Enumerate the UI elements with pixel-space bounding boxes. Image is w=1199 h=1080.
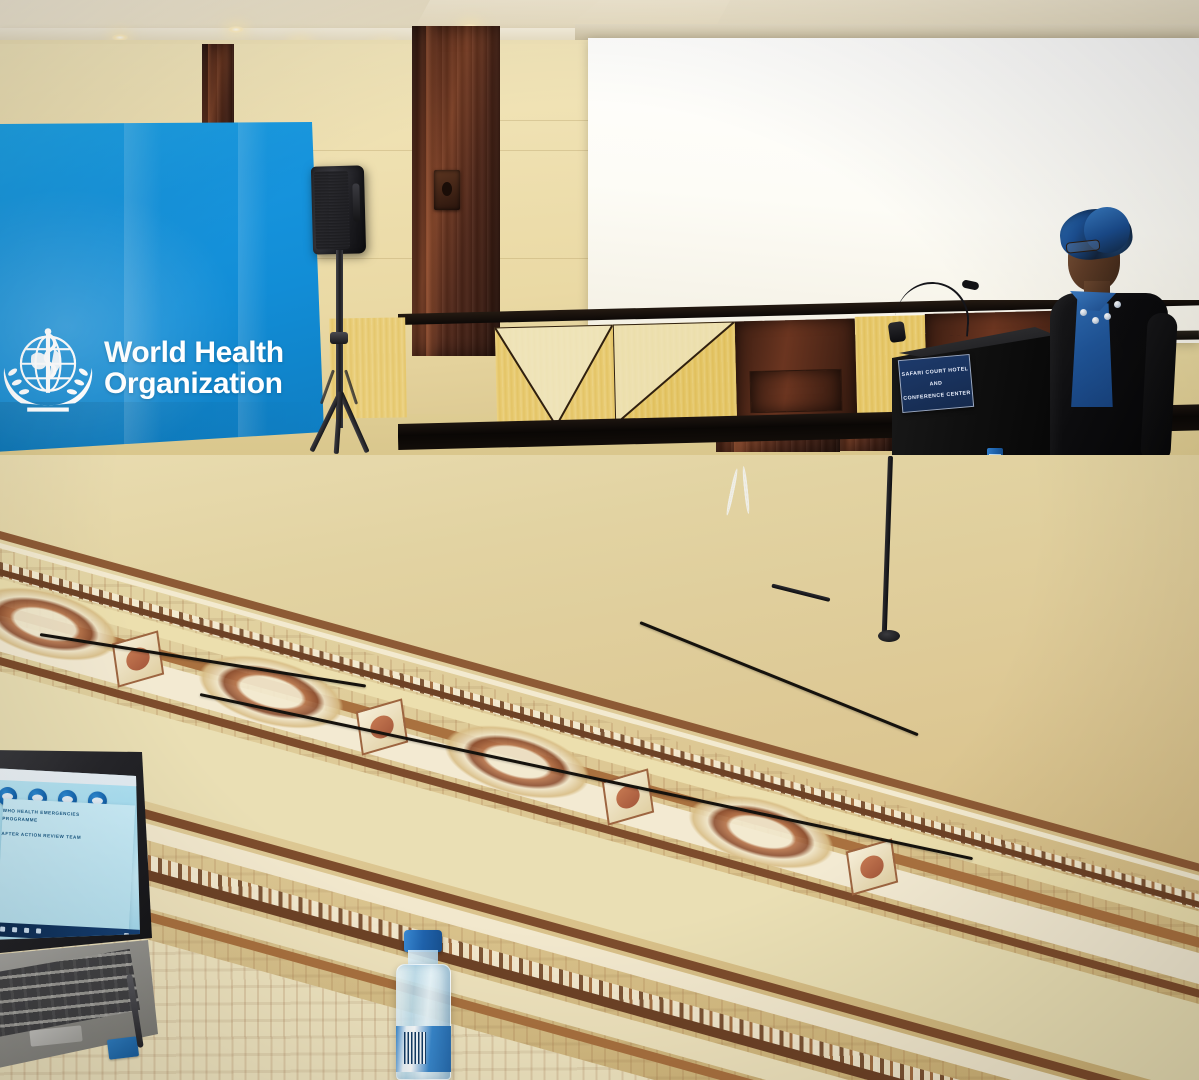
who-emblem-icon [0,318,100,422]
wall-speaker-cabinet [750,369,843,413]
laptop-screen[interactable]: WHO HEALTH EMERGENCIES PROGRAMME AFTER A… [0,764,140,940]
wainscot-triangle-icon [495,325,615,428]
person-arm [1140,312,1178,463]
venue-sign-line-2: AND [929,380,942,387]
microphone-base [888,321,907,343]
person-necklace-bead [1104,313,1111,320]
carpet-diamond-center [859,852,886,881]
who-line-2: Organization [104,368,314,399]
pa-speaker-handle [352,183,360,221]
pa-speaker-grille [314,171,350,250]
foreground-water-bottle [392,930,454,1080]
taskbar-app-icon[interactable] [36,928,41,933]
wall-outlet-plate [434,170,460,210]
who-banner: World Health Organization [0,122,324,452]
venue-sign-line-1: SAFARI COURT HOTEL [901,366,968,378]
venue-sign-line-3: CONFERENCE CENTER [903,390,971,402]
person-necklace-bead [1114,301,1121,308]
wainscot-panel-a [495,325,615,428]
pa-speaker-stand-clamp [330,332,348,344]
who-line-1: World Health [104,337,314,368]
taskbar-app-icon[interactable] [24,928,29,933]
person-necklace-bead [1080,309,1087,316]
bottle-cap [404,930,442,952]
pa-speaker-cabinet [311,165,366,254]
taskbar-start-icon[interactable] [0,926,5,931]
wainscot-triangle-icon [613,322,737,425]
who-banner-text: World Health Organization [104,337,314,399]
ceiling-downlight [228,26,244,33]
person-necklace-bead [1092,317,1099,324]
boom-mic-stand-foot [878,630,900,642]
wainscot-panel-b [613,322,737,425]
venue-sign-plate: SAFARI COURT HOTEL AND CONFERENCE CENTER [898,354,974,413]
slide-text-block: WHO HEALTH EMERGENCIES PROGRAMME AFTER A… [1,807,122,844]
conference-room-photo: World Health Organization SAFARI COURT H… [0,0,1199,1080]
carpet-diamond-center [369,712,396,741]
foreground-laptop[interactable]: WHO HEALTH EMERGENCIES PROGRAMME AFTER A… [0,742,164,1080]
bottle-barcode [404,1032,426,1064]
laptop-brand-badge [107,1036,139,1060]
taskbar-search-icon[interactable] [12,927,17,932]
patterned-carpet [0,455,1199,1080]
